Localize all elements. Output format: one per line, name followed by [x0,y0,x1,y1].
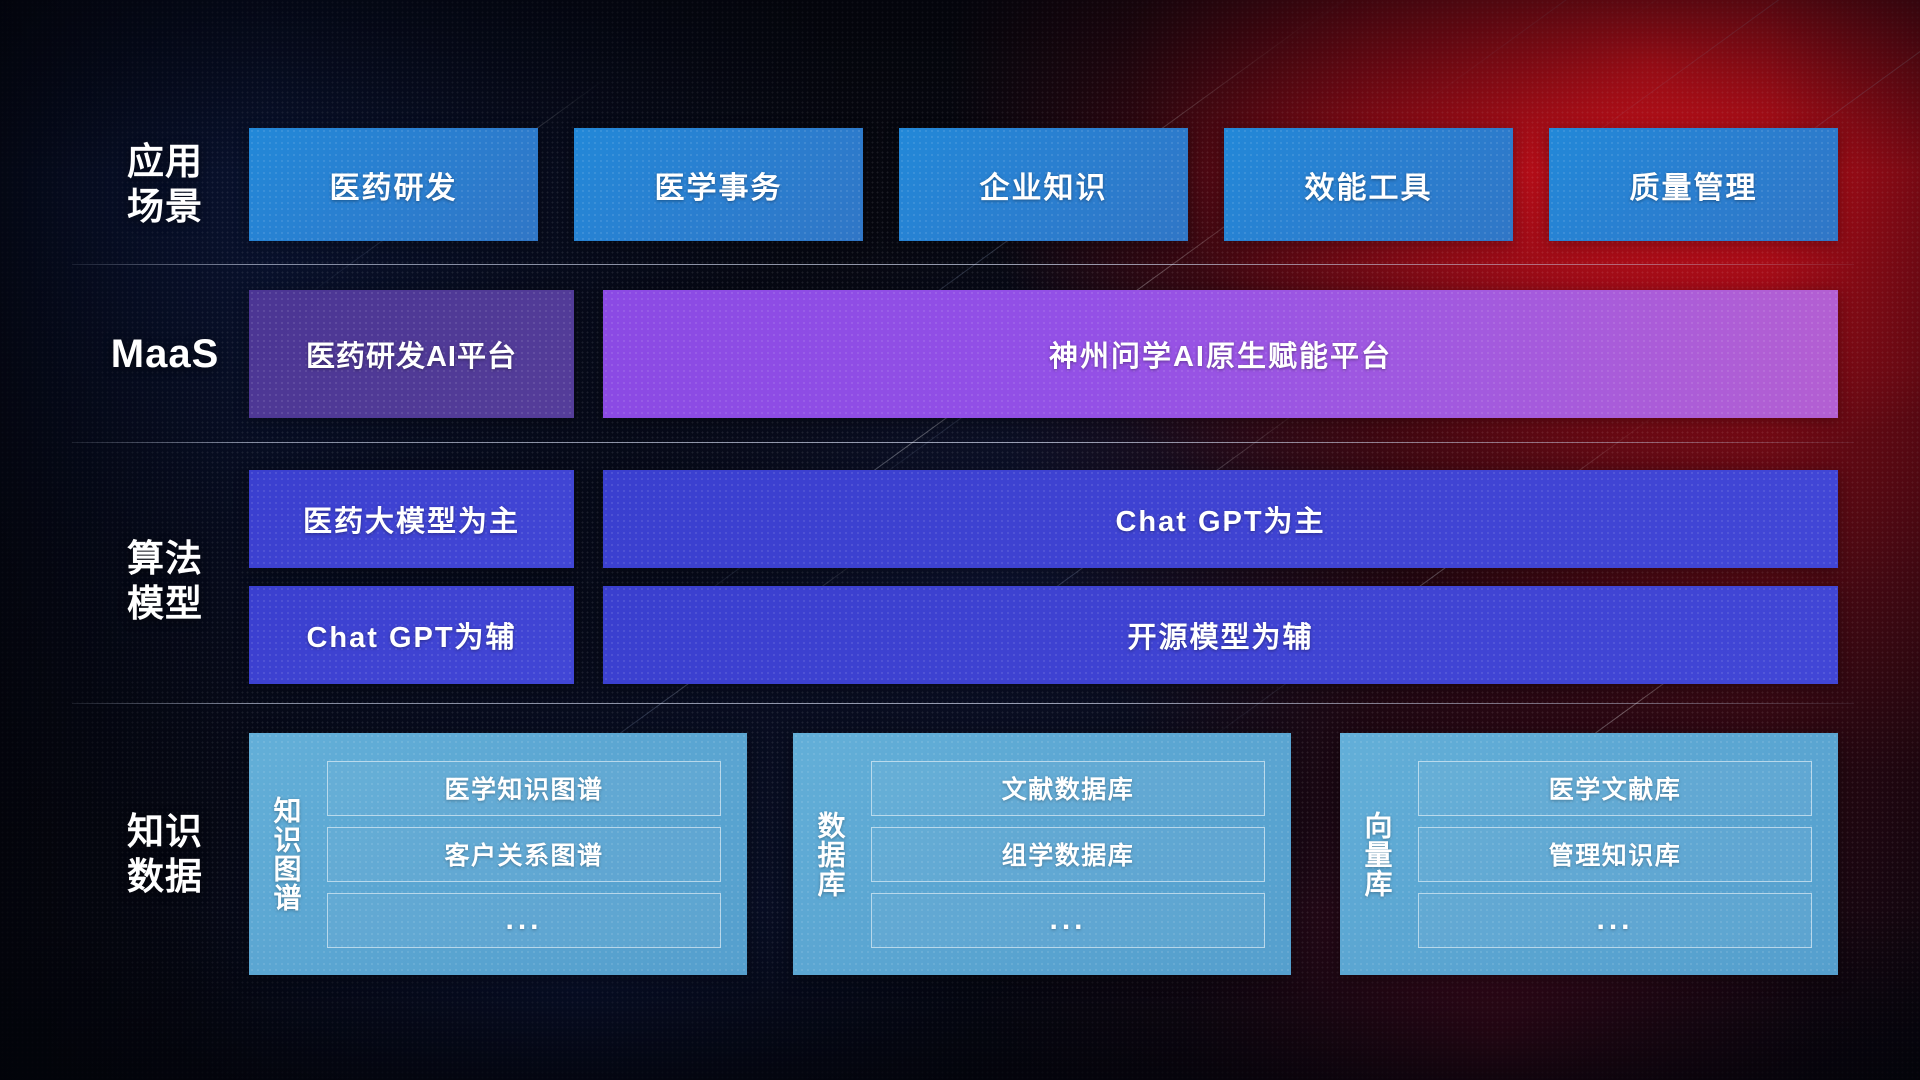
divider-after-algorithm [72,703,1854,704]
knowledge-panel-items: 医学知识图谱 客户关系图谱 ... [323,733,747,975]
app-box-label: 企业知识 [980,163,1108,207]
app-box-label: 医学事务 [655,163,783,207]
knowledge-item-more[interactable]: ... [327,893,721,948]
knowledge-panel-items: 文献数据库 组学数据库 ... [867,733,1291,975]
knowledge-panel-knowledge-graph[interactable]: 知识图谱 医学知识图谱 客户关系图谱 ... [249,733,747,975]
knowledge-panel-vector-store[interactable]: 向量库 医学文献库 管理知识库 ... [1340,733,1838,975]
algo-box-medicine-llm-primary[interactable]: 医药大模型为主 [249,470,574,568]
tier-label-knowledge: 知识 数据 [90,733,240,975]
app-box-medicine-rd[interactable]: 医药研发 [249,128,538,241]
algo-box-opensource-secondary[interactable]: 开源模型为辅 [603,586,1838,684]
knowledge-item[interactable]: 管理知识库 [1418,827,1812,882]
knowledge-panel-title: 知识图谱 [249,733,323,975]
algo-box-label: Chat GPT为主 [1115,498,1325,540]
maas-box-medicine-ai-platform[interactable]: 医药研发AI平台 [249,290,574,418]
app-box-label: 医药研发 [330,163,458,207]
tier-label-maas: MaaS [90,294,240,414]
app-box-quality-management[interactable]: 质量管理 [1549,128,1838,241]
app-box-medical-affairs[interactable]: 医学事务 [574,128,863,241]
knowledge-item[interactable]: 医学文献库 [1418,761,1812,816]
knowledge-item[interactable]: 医学知识图谱 [327,761,721,816]
knowledge-panel-items: 医学文献库 管理知识库 ... [1414,733,1838,975]
knowledge-panel-database[interactable]: 数据库 文献数据库 组学数据库 ... [793,733,1291,975]
algo-box-label: Chat GPT为辅 [306,614,516,656]
knowledge-panel-title: 数据库 [793,733,867,975]
divider-after-maas [72,442,1854,443]
maas-box-label: 医药研发AI平台 [306,333,517,375]
app-box-label: 效能工具 [1305,163,1433,207]
knowledge-item[interactable]: 客户关系图谱 [327,827,721,882]
knowledge-panel-title: 向量库 [1340,733,1414,975]
tier-label-application: 应用 场景 [90,124,240,244]
app-box-enterprise-knowledge[interactable]: 企业知识 [899,128,1188,241]
knowledge-item-more[interactable]: ... [1418,893,1812,948]
algo-box-label: 开源模型为辅 [1127,614,1313,656]
knowledge-item-more[interactable]: ... [871,893,1265,948]
algo-box-chatgpt-primary[interactable]: Chat GPT为主 [603,470,1838,568]
algo-box-chatgpt-secondary[interactable]: Chat GPT为辅 [249,586,574,684]
app-box-label: 质量管理 [1630,163,1758,207]
divider-after-application [72,264,1854,265]
knowledge-item[interactable]: 组学数据库 [871,827,1265,882]
maas-box-shenzhou-wenxue-platform[interactable]: 神州问学AI原生赋能平台 [603,290,1838,418]
tier-label-algorithm: 算法 模型 [90,477,240,685]
architecture-diagram: 应用 场景 医药研发 医学事务 企业知识 效能工具 质量管理 MaaS 医药研发… [0,0,1920,1080]
algo-box-label: 医药大模型为主 [303,498,520,540]
knowledge-item[interactable]: 文献数据库 [871,761,1265,816]
maas-box-label: 神州问学AI原生赋能平台 [1049,333,1392,375]
app-box-efficiency-tools[interactable]: 效能工具 [1224,128,1513,241]
